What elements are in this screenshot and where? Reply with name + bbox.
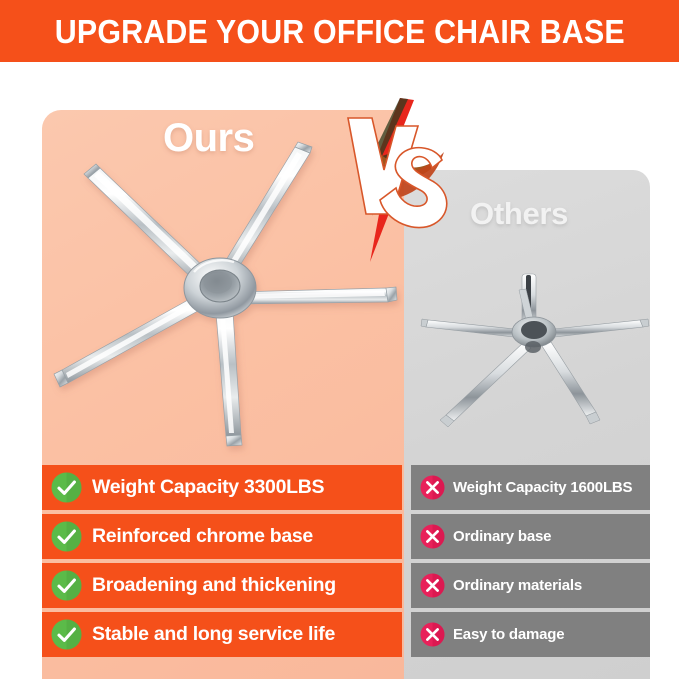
- comparison-rows-ours: Weight Capacity 3300LBS Reinforced chrom…: [42, 465, 402, 661]
- row-label-others: Easy to damage: [453, 626, 564, 643]
- column-label-ours: Ours: [163, 116, 254, 161]
- row-label-others: Ordinary base: [453, 528, 551, 545]
- product-image-others: [420, 268, 652, 430]
- table-row: Reinforced chrome base: [42, 514, 402, 559]
- row-label-ours: Weight Capacity 3300LBS: [92, 476, 324, 499]
- check-circle-icon: [51, 472, 82, 503]
- cross-circle-icon: [420, 524, 445, 549]
- table-row: Ordinary base: [411, 514, 650, 559]
- cross-circle-icon: [420, 622, 445, 647]
- row-label-others: Weight Capacity 1600LBS: [453, 479, 632, 496]
- table-row: Ordinary materials: [411, 563, 650, 608]
- row-label-ours: Reinforced chrome base: [92, 525, 313, 548]
- table-row: Weight Capacity 1600LBS: [411, 465, 650, 510]
- header-banner: UPGRADE YOUR OFFICE CHAIR BASE: [0, 0, 679, 62]
- check-circle-icon: [51, 570, 82, 601]
- table-row: Weight Capacity 3300LBS: [42, 465, 402, 510]
- row-label-others: Ordinary materials: [453, 577, 582, 594]
- vs-badge: [336, 96, 466, 268]
- page-title: UPGRADE YOUR OFFICE CHAIR BASE: [54, 15, 624, 48]
- row-label-ours: Broadening and thickening: [92, 574, 336, 597]
- cross-circle-icon: [420, 475, 445, 500]
- table-row: Easy to damage: [411, 612, 650, 657]
- infographic-root: UPGRADE YOUR OFFICE CHAIR BASE: [0, 0, 679, 679]
- check-circle-icon: [51, 619, 82, 650]
- column-label-others: Others: [470, 196, 568, 232]
- comparison-rows-others: Weight Capacity 1600LBS Ordinary base: [411, 465, 650, 661]
- table-row: Broadening and thickening: [42, 563, 402, 608]
- check-circle-icon: [51, 521, 82, 552]
- row-label-ours: Stable and long service life: [92, 623, 335, 646]
- table-row: Stable and long service life: [42, 612, 402, 657]
- cross-circle-icon: [420, 573, 445, 598]
